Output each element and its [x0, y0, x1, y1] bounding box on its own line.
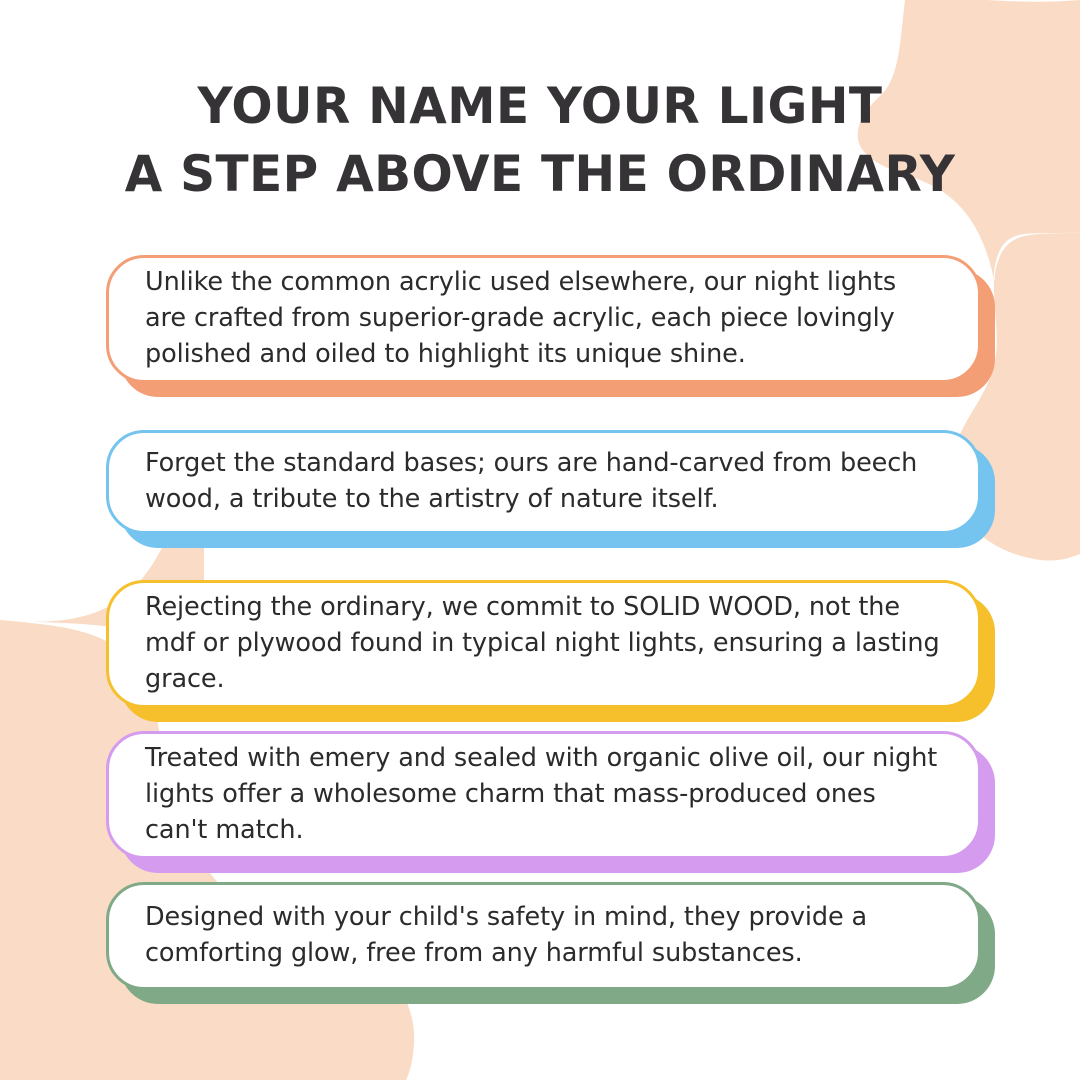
feature-card: Rejecting the ordinary, we commit to SOL…	[106, 580, 981, 708]
card-body: Forget the standard bases; ours are hand…	[106, 430, 981, 534]
card-text: Unlike the common acrylic used elsewhere…	[145, 264, 944, 372]
poster-canvas: YOUR NAME YOUR LIGHT A STEP ABOVE THE OR…	[0, 0, 1080, 1080]
card-body: Designed with your child's safety in min…	[106, 882, 981, 990]
card-text: Designed with your child's safety in min…	[145, 899, 944, 971]
card-text: Treated with emery and sealed with organ…	[145, 740, 944, 848]
feature-card: Designed with your child's safety in min…	[106, 882, 981, 990]
page-title-line-2: A STEP ABOVE THE ORDINARY	[16, 140, 1064, 208]
feature-card: Unlike the common acrylic used elsewhere…	[106, 255, 981, 383]
card-body: Rejecting the ordinary, we commit to SOL…	[106, 580, 981, 708]
feature-card: Forget the standard bases; ours are hand…	[106, 430, 981, 534]
page-title: YOUR NAME YOUR LIGHT A STEP ABOVE THE OR…	[0, 72, 1080, 208]
card-body: Treated with emery and sealed with organ…	[106, 731, 981, 859]
card-text: Rejecting the ordinary, we commit to SOL…	[145, 589, 944, 697]
card-text: Forget the standard bases; ours are hand…	[145, 445, 944, 517]
feature-card: Treated with emery and sealed with organ…	[106, 731, 981, 859]
page-title-line-1: YOUR NAME YOUR LIGHT	[16, 72, 1064, 140]
card-body: Unlike the common acrylic used elsewhere…	[106, 255, 981, 383]
